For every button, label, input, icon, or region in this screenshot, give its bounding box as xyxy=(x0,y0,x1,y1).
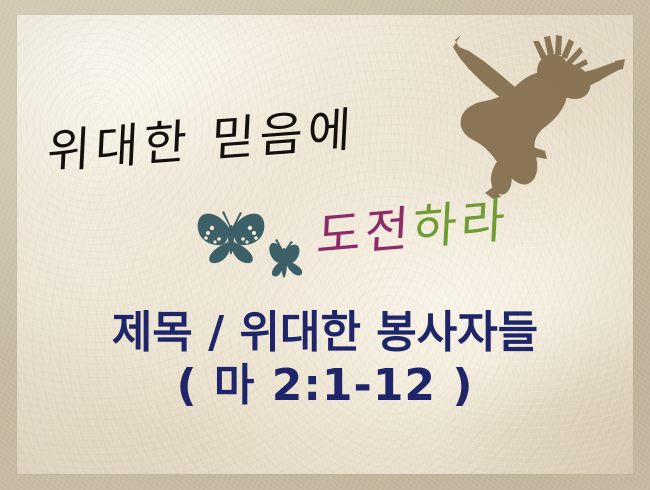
paper-panel: 위대한 믿음에 xyxy=(17,15,633,474)
butterfly-small-icon xyxy=(265,238,305,280)
jumping-person-silhouette-icon xyxy=(449,29,625,199)
slide-canvas: 위대한 믿음에 xyxy=(0,0,650,490)
butterfly-icon xyxy=(195,208,267,264)
scripture-reference: ( 마 2:1-12 ) xyxy=(17,359,633,413)
handwritten-line-2-part-2: 하라 xyxy=(411,192,510,257)
handwritten-line-1: 위대한 믿음에 xyxy=(45,82,468,199)
handwritten-line-2: 도전하라 xyxy=(315,180,511,267)
page-title: 제목 / 위대한 봉사자들 xyxy=(17,307,633,359)
title-block: 제목 / 위대한 봉사자들 ( 마 2:1-12 ) xyxy=(17,307,633,413)
handwritten-line-2-part-1: 도전 xyxy=(315,200,414,265)
